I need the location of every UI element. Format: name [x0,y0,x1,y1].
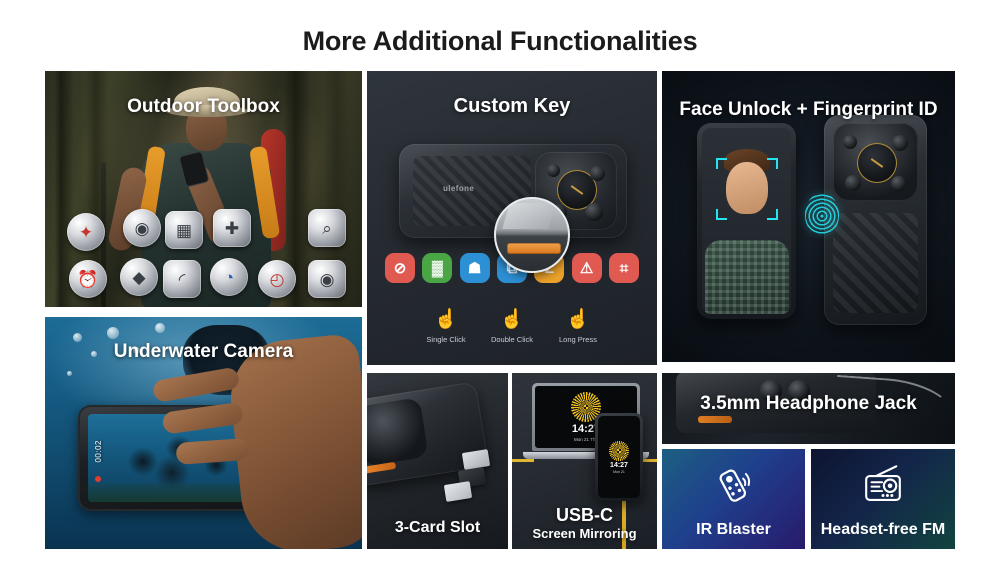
phone-wallpaper [609,441,629,461]
magnifier-flap [502,203,555,229]
flashlight-icon[interactable]: ☗ [460,253,490,283]
long-press-label: Long Press [547,335,609,344]
mirroring-phone: 14:27 Mon 21 [595,413,643,501]
panel-ir-blaster[interactable]: IR Blaster [662,449,805,549]
panel-headphone-jack[interactable]: 3.5mm Headphone Jack [662,373,955,444]
remote-control-icon [662,463,805,513]
card-slot-camera-island [367,397,429,467]
mirroring-phone-screen: 14:27 Mon 21 [598,416,640,498]
fm-radio-label: Headset-free FM [811,521,955,539]
recording-indicator-dot [95,476,101,482]
alarm-tool-icon[interactable]: ⏰ [69,260,107,298]
back-camera-lens-3 [845,175,861,191]
brand-logo: ulefone [443,184,474,193]
panel-fm-radio[interactable]: Headset-free FM [811,449,955,549]
face-detection-brackets [716,158,778,220]
page-title: More Additional Functionalities [0,26,1000,57]
equalizer-icon[interactable]: ▓ [422,253,452,283]
hand-tap-icon: ☝ [415,307,477,333]
compass-tool-icon[interactable]: ✦ [67,213,105,251]
single-click-gesture: ☝ Single Click [415,307,477,344]
game-controller-icon[interactable]: ⌗ [609,253,639,283]
radio-icon [811,463,955,511]
phone-front-face-unlock [697,123,796,319]
ir-blaster-label: IR Blaster [662,521,805,539]
back-camera-lens-2 [892,135,908,151]
user-shirt [705,240,789,314]
face-unlock-screen [702,128,791,314]
fingerprint-icon [805,193,839,235]
outdoor-tool-icon-grid: ✦ ◉ ▦ ✚ ⌕ ⏰ ◆ ◜ ◔ ◴ ◉ [45,71,362,307]
plumb-bob-tool-icon[interactable]: ◆ [120,258,158,296]
phone-back-texture [833,213,918,313]
hand-holding-phone [225,333,362,549]
sim-card-1 [462,449,490,470]
camera-tool-icon[interactable]: ◉ [308,260,346,298]
panel-custom-key[interactable]: Custom Key ulefone ⊘ ▓ ☗ ⧉ Z ⚠ ⌗ [367,71,657,365]
double-click-label: Double Click [481,335,543,344]
feature-collage-page: More Additional Functionalities ✦ ◉ ▦ ✚ … [0,0,1000,562]
headphone-jack-orange-accent [698,416,732,423]
barometer-tool-icon[interactable]: ◴ [258,260,296,298]
camera-lens-4 [585,203,603,221]
sos-warning-icon[interactable]: ⚠ [572,253,602,283]
protractor-tool-icon[interactable]: ◜ [163,260,201,298]
panel-card-slot[interactable]: 3-Card Slot [367,373,508,549]
sound-meter-tool-icon[interactable]: ◔ [210,258,248,296]
back-camera-lens-1 [843,135,857,149]
face-unlock-title: Face Unlock + Fingerprint ID [662,99,955,121]
camera-island-back [833,123,918,201]
phone-clock: 14:27 [610,462,628,469]
back-camera-lens-4 [891,176,906,191]
usb-cable-left-segment [512,459,534,462]
underwater-camera-title: Underwater Camera [45,341,362,363]
single-click-label: Single Click [415,335,477,344]
hand-double-tap-icon: ☝ [481,307,543,333]
usb-c-subtitle: Screen Mirroring [512,526,657,541]
gradienter-tool-icon[interactable]: ◉ [123,209,161,247]
panel-face-unlock-fingerprint[interactable]: Face Unlock + Fingerprint ID [662,71,955,362]
sim-card-2 [444,481,472,502]
panel-underwater-camera[interactable]: 00:02 ▣ ▤ Underwater Camera [45,317,362,549]
usb-c-title-group: USB-C Screen Mirroring [512,505,657,541]
magnifier-tool-icon[interactable]: ⌕ [308,209,346,247]
usb-cable-right-segment [643,459,657,462]
usb-c-title: USB-C [512,505,657,526]
custom-key-title: Custom Key [367,95,657,118]
gesture-legend: ☝ Single Click ☝ Double Click ☝ Long Pre… [415,307,609,344]
phone-back-fingerprint [824,115,927,325]
long-press-gesture: ☝ Long Press [547,307,609,344]
custom-key-magnifier [494,197,570,273]
hand-long-press-icon: ☝ [547,307,609,333]
panel-usb-c-screen-mirroring[interactable]: 14:27 Mon 21 Thu 14:27 Mon 21 USB-C Scre… [512,373,657,549]
headphone-jack-title: 3.5mm Headphone Jack [662,393,955,415]
double-click-gesture: ☝ Double Click [481,307,543,344]
recording-timer: 00:02 [94,440,103,463]
none-icon[interactable]: ⊘ [385,253,415,283]
phone-date: Mon 21 [613,470,625,474]
camera-lens-1 [547,164,560,177]
card-slot-title: 3-Card Slot [367,519,508,537]
panel-outdoor-toolbox[interactable]: ✦ ◉ ▦ ✚ ⌕ ⏰ ◆ ◜ ◔ ◴ ◉ Outdoor Toolbox [45,71,362,307]
altimeter-tool-icon[interactable]: ▦ [165,211,203,249]
magnetic-detector-tool-icon[interactable]: ✚ [213,209,251,247]
orange-custom-key-button[interactable] [507,243,561,254]
watch-dial-decoration-back [857,143,897,183]
camera-lens-2 [590,166,605,181]
